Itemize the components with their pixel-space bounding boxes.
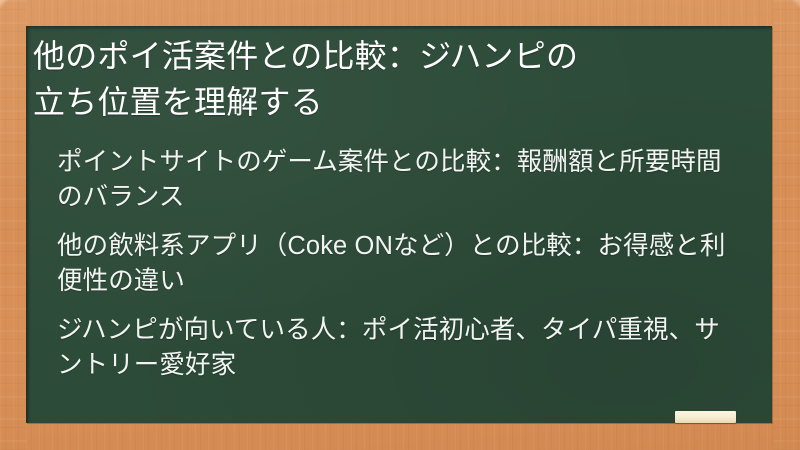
point-list: ポイントサイトのゲーム案件との比較：報酬額と所要時間のバランス 他の飲料系アプリ… xyxy=(26,125,772,383)
list-item: ジハンピが向いている人：ポイ活初心者、タイパ重視、サントリー愛好家 xyxy=(57,313,734,383)
chalkboard: 他のポイ活案件との比較：ジハンピの 立ち位置を理解する ポイントサイトのゲーム案… xyxy=(26,26,772,423)
slide-root: 他のポイ活案件との比較：ジハンピの 立ち位置を理解する ポイントサイトのゲーム案… xyxy=(0,0,800,450)
list-item: ポイントサイトのゲーム案件との比較：報酬額と所要時間のバランス xyxy=(57,145,734,215)
frame-right-grain xyxy=(773,0,800,450)
chalk-stick-icon xyxy=(675,411,736,423)
chalkboard-content: 他のポイ活案件との比較：ジハンピの 立ち位置を理解する ポイントサイトのゲーム案… xyxy=(26,26,772,383)
frame-left-grain xyxy=(0,0,27,450)
page-title: 他のポイ活案件との比較：ジハンピの 立ち位置を理解する xyxy=(26,26,772,125)
list-item: 他の飲料系アプリ（Coke ONなど）との比較：お得感と利便性の違い xyxy=(57,229,734,299)
